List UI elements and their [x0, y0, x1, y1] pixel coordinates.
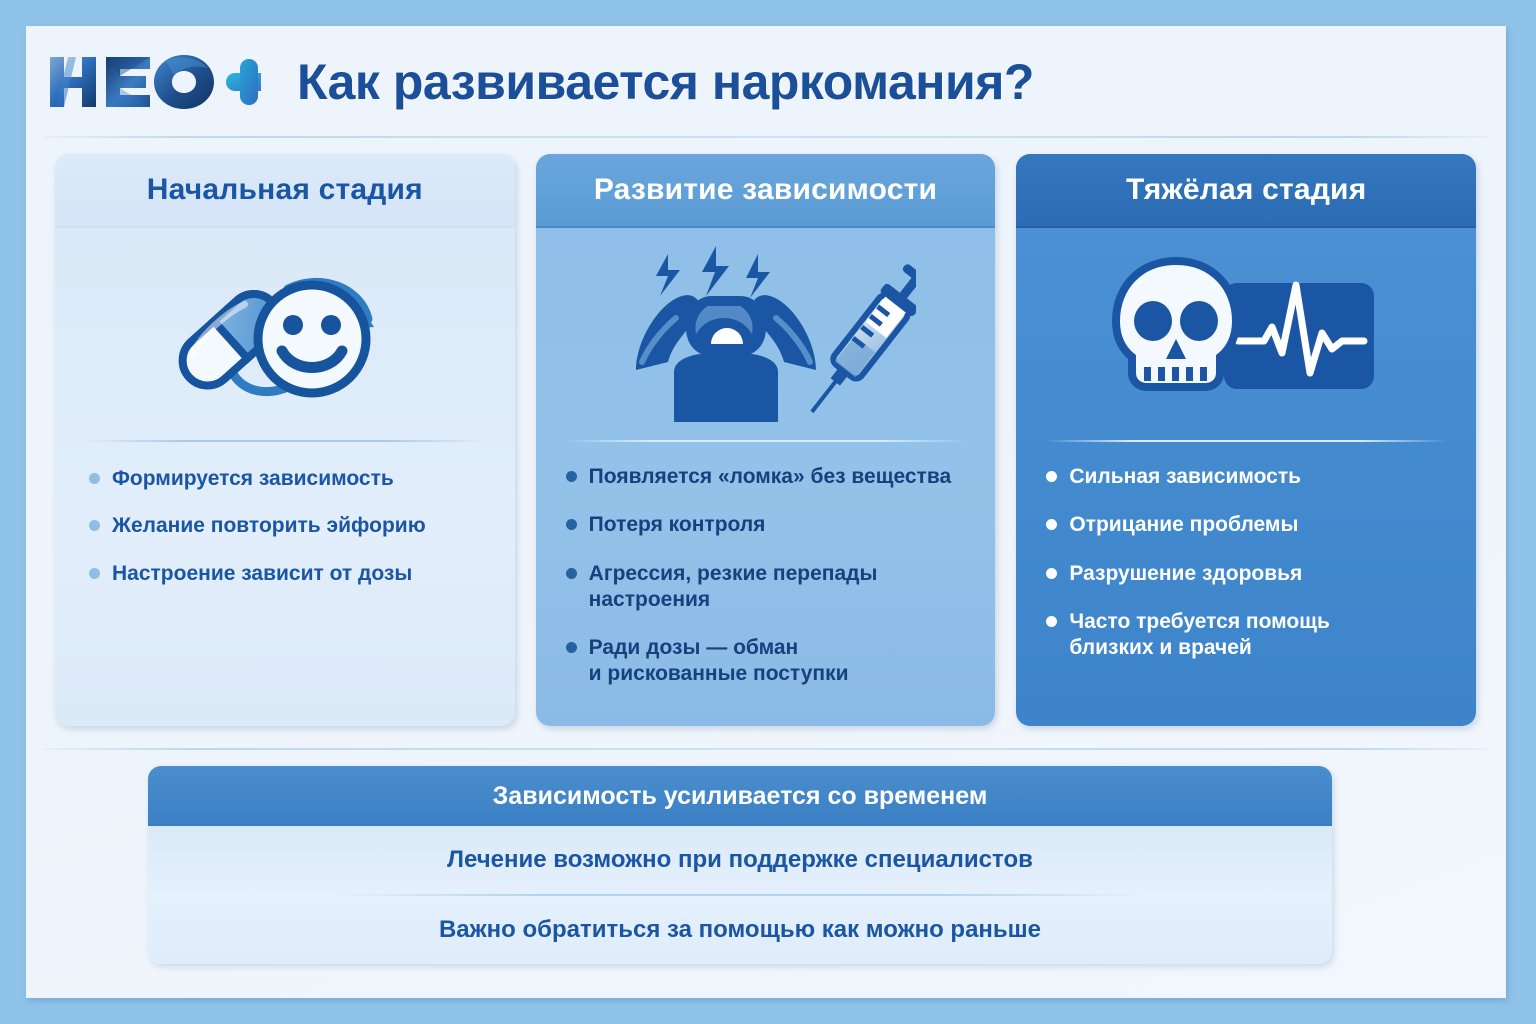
page-title: Как развивается наркомания? [297, 53, 1034, 111]
list-item: Агрессия, резкие перепады настроения [566, 561, 974, 614]
summary-body: Лечение возможно при поддержке специалис… [148, 826, 1332, 964]
list-item: Формируется зависимость [89, 466, 493, 492]
bullet-dot-icon [1046, 568, 1057, 579]
bullet-text: Потеря контроля [589, 512, 766, 538]
bullet-text: Разрушение здоровья [1069, 561, 1302, 587]
header-divider [44, 136, 1488, 138]
summary-panel: Зависимость усиливается со временем Лече… [148, 766, 1332, 964]
bullet-dot-icon [89, 520, 100, 531]
bullet-text: Часто требуется помощьблизких и врачей [1069, 609, 1330, 662]
bullet-text: Желание повторить эйфорию [112, 513, 426, 539]
bullet-text: Агрессия, резкие перепады настроения [589, 561, 974, 614]
bullet-dot-icon [89, 568, 100, 579]
card-bullets-development: Появляется «ломка» без вещества Потеря к… [536, 442, 996, 726]
bullet-dot-icon [566, 568, 577, 579]
card-title-development: Развитие зависимости [536, 154, 996, 228]
bullet-dot-icon [566, 471, 577, 482]
list-item: Сильная зависимость [1046, 464, 1454, 490]
bullet-text: Отрицание проблемы [1069, 512, 1298, 538]
footer-divider [44, 748, 1488, 750]
list-item: Появляется «ломка» без вещества [566, 464, 974, 490]
list-item: Ради дозы — обмани рискованные поступки [566, 635, 974, 688]
stage-card-initial[interactable]: Начальная стадия [55, 154, 515, 726]
card-body-severe: Сильная зависимость Отрицание проблемы Р… [1016, 228, 1476, 726]
skull-ecg-icon [1016, 228, 1476, 440]
card-title-severe: Тяжёлая стадия [1016, 154, 1476, 228]
bullet-dot-icon [566, 642, 577, 653]
summary-headline: Зависимость усиливается со временем [148, 766, 1332, 826]
summary-line: Важно обратиться за помощью как можно ра… [148, 896, 1332, 964]
bullet-text: Формируется зависимость [112, 466, 394, 492]
neo-plus-logo [46, 51, 261, 113]
bullet-dot-icon [1046, 616, 1057, 627]
card-title-initial: Начальная стадия [55, 154, 515, 228]
list-item: Желание повторить эйфорию [89, 513, 493, 539]
pill-smiley-cycle-icon [55, 228, 515, 440]
list-item: Настроение зависит от дозы [89, 561, 493, 587]
bullet-text: Сильная зависимость [1069, 464, 1301, 490]
stage-card-development[interactable]: Развитие зависимости [536, 154, 996, 726]
bullet-dot-icon [1046, 519, 1057, 530]
bullet-dot-icon [89, 473, 100, 484]
card-body-initial: Формируется зависимость Желание повторит… [55, 228, 515, 726]
list-item: Отрицание проблемы [1046, 512, 1454, 538]
bullet-text: Появляется «ломка» без вещества [589, 464, 951, 490]
stage-card-severe[interactable]: Тяжёлая стадия [1016, 154, 1476, 726]
card-body-development: Появляется «ломка» без вещества Потеря к… [536, 228, 996, 726]
list-item: Часто требуется помощьблизких и врачей [1046, 609, 1454, 662]
bullet-dot-icon [1046, 471, 1057, 482]
poster-header: Как развивается наркомания? [26, 26, 1506, 138]
list-item: Разрушение здоровья [1046, 561, 1454, 587]
poster-inner-panel: Как развивается наркомания? Начальная ст… [26, 26, 1506, 998]
bullet-dot-icon [566, 519, 577, 530]
summary-line: Лечение возможно при поддержке специалис… [148, 826, 1332, 894]
stage-cards: Начальная стадия [26, 154, 1506, 726]
bullet-text: Настроение зависит от дозы [112, 561, 412, 587]
card-bullets-severe: Сильная зависимость Отрицание проблемы Р… [1016, 442, 1476, 726]
poster-root: Как развивается наркомания? Начальная ст… [0, 0, 1536, 1024]
card-bullets-initial: Формируется зависимость Желание повторит… [55, 442, 515, 726]
bullet-text: Ради дозы — обмани рискованные поступки [589, 635, 849, 688]
stressed-person-syringe-icon [536, 228, 996, 440]
list-item: Потеря контроля [566, 512, 974, 538]
